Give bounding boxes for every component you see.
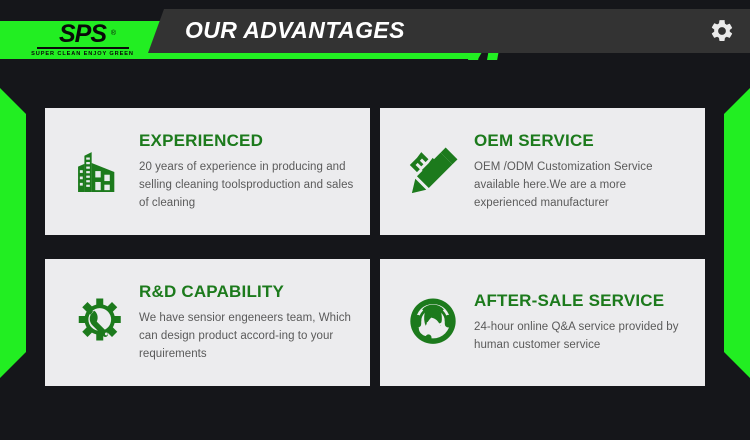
logo-tagline: SUPER CLEAN ENJOY GREEN — [31, 50, 134, 58]
card-icon-slot — [396, 145, 470, 199]
right-green-accent-shape — [724, 88, 750, 378]
page-header: OUR ADVANTAGES SPS® SUPER CLEAN ENJOY GR… — [0, 0, 750, 88]
page-title: OUR ADVANTAGES — [185, 16, 405, 44]
card-icon-slot — [61, 295, 135, 351]
card-text-block: OEM SERVICE OEM /ODM Customization Servi… — [470, 131, 691, 212]
card-text-block: AFTER-SALE SERVICE 24-hour online Q&A se… — [470, 291, 691, 354]
pencil-ruler-icon — [406, 145, 460, 199]
headset-support-icon — [404, 294, 462, 352]
card-title: R&D CAPABILITY — [139, 282, 354, 302]
card-icon-slot — [61, 143, 135, 201]
building-factory-icon — [69, 143, 127, 201]
card-description: OEM /ODM Customization Service available… — [474, 158, 689, 212]
registered-trademark-icon: ® — [111, 22, 115, 45]
card-title: EXPERIENCED — [139, 131, 354, 151]
card-title: AFTER-SALE SERVICE — [474, 291, 689, 311]
settings-gear-button[interactable] — [703, 12, 741, 50]
card-description: 20 years of experience in producing and … — [139, 158, 354, 212]
advantage-card-oem-service[interactable]: OEM SERVICE OEM /ODM Customization Servi… — [380, 108, 705, 235]
logo-wordmark: SPS® — [59, 23, 106, 46]
card-description: We have sensior engeneers team, Which ca… — [139, 309, 354, 363]
card-title: OEM SERVICE — [474, 131, 689, 151]
card-description: 24-hour online Q&A service provided by h… — [474, 318, 689, 354]
card-text-block: R&D CAPABILITY We have sensior engeneers… — [135, 282, 356, 363]
left-green-accent-shape — [0, 88, 26, 378]
gear-icon — [709, 18, 735, 44]
logo-wordmark-text: SPS — [59, 20, 106, 48]
card-icon-slot — [396, 294, 470, 352]
advantage-card-experienced[interactable]: EXPERIENCED 20 years of experience in pr… — [45, 108, 370, 235]
advantage-card-after-sale-service[interactable]: AFTER-SALE SERVICE 24-hour online Q&A se… — [380, 259, 705, 386]
advantage-card-rd-capability[interactable]: R&D CAPABILITY We have sensior engeneers… — [45, 259, 370, 386]
advantages-page: OUR ADVANTAGES SPS® SUPER CLEAN ENJOY GR… — [0, 0, 750, 440]
gear-wrench-icon — [70, 295, 126, 351]
brand-logo: SPS® SUPER CLEAN ENJOY GREEN — [30, 22, 135, 58]
card-text-block: EXPERIENCED 20 years of experience in pr… — [135, 131, 356, 212]
advantages-card-grid: EXPERIENCED 20 years of experience in pr… — [45, 108, 705, 386]
